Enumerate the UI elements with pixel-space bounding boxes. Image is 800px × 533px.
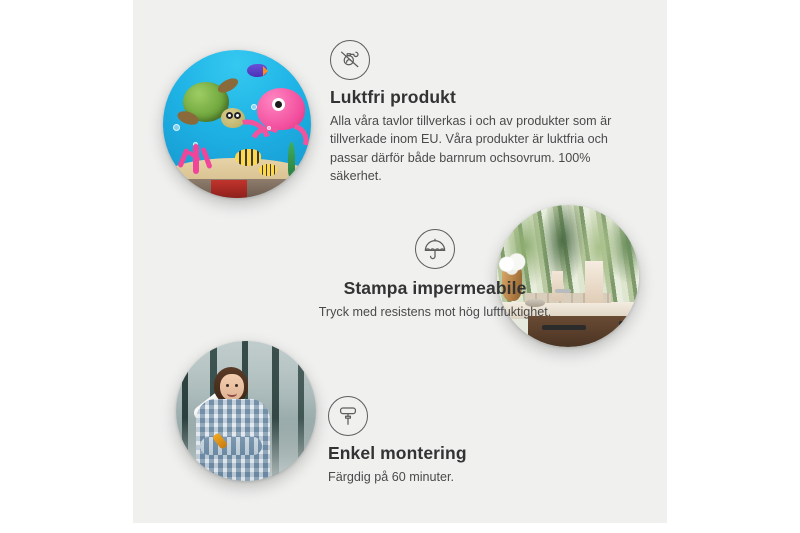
umbrella-icon <box>415 229 455 269</box>
paint-roller-icon <box>328 396 368 436</box>
product-image-woman-with-paint-roller[interactable] <box>176 341 316 481</box>
feature-waterproof: Stampa impermeabile Tryck med resistens … <box>205 229 665 321</box>
seaweed-shape <box>288 142 295 176</box>
product-image-underwater-cartoon-scene[interactable] <box>163 50 311 198</box>
smile-shape <box>227 390 237 397</box>
feature-title: Stampa impermeabile <box>205 278 665 299</box>
bubble-icon <box>173 124 180 131</box>
feature-title: Luktfri produkt <box>330 87 622 108</box>
bubble-icon <box>267 126 271 130</box>
feature-body: Tryck med resistens mot hög luftfuktighe… <box>205 303 665 321</box>
octopus-eye-shape <box>272 98 285 111</box>
feature-easy-mounting: Enkel montering Färgdig på 60 minuter. <box>328 396 608 486</box>
turtle-flipper-shape <box>216 75 241 95</box>
screenshot-stage: Luktfri produkt Alla våra tavlor tillver… <box>0 0 800 533</box>
feature-body: Alla våra tavlor tillverkas i och av pro… <box>330 112 622 185</box>
feature-title: Enkel montering <box>328 443 608 464</box>
red-object-shape <box>211 180 247 198</box>
no-fragrance-icon <box>330 40 370 80</box>
striped-fish-shape <box>235 149 261 166</box>
striped-fish-shape <box>259 164 277 176</box>
folded-arms-shape <box>200 437 262 455</box>
feature-odour-free: Luktfri produkt Alla våra tavlor tillver… <box>330 40 622 185</box>
blue-fish-shape <box>247 64 267 77</box>
feature-body: Färgdig på 60 minuter. <box>328 468 608 486</box>
coral-shape <box>177 138 219 174</box>
